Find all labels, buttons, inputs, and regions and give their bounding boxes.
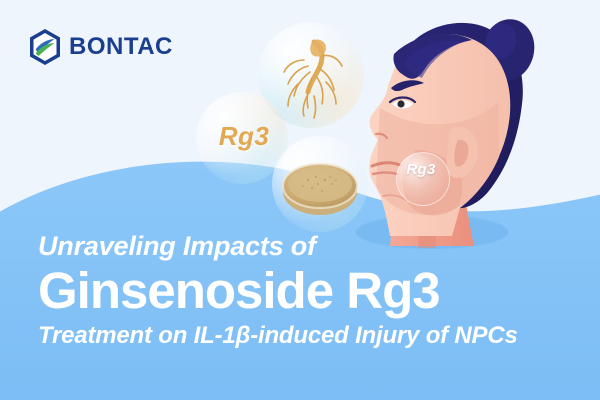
rg3-floating-label: Rg3 [214,121,274,152]
poster-canvas: Rg3 Rg3 [0,0,600,400]
headline-subtitle: Treatment on IL-1β-induced Injury of NPC… [38,323,568,349]
rg3-cheek-label: Rg3 [398,161,444,178]
powder-bubble [272,136,368,232]
headline-eyebrow: Unraveling Impacts of [38,232,568,260]
brand-wordmark: BONTAC [69,35,173,59]
powder-bowl-icon [272,136,368,232]
brand-logo[interactable]: BONTAC [28,28,173,66]
bontac-hexagon-logo-icon [28,28,62,66]
headline-block: Unraveling Impacts of Ginsenoside Rg3 Tr… [38,232,568,350]
headline-title: Ginsenoside Rg3 [38,263,568,318]
eye-pupil [397,100,404,107]
